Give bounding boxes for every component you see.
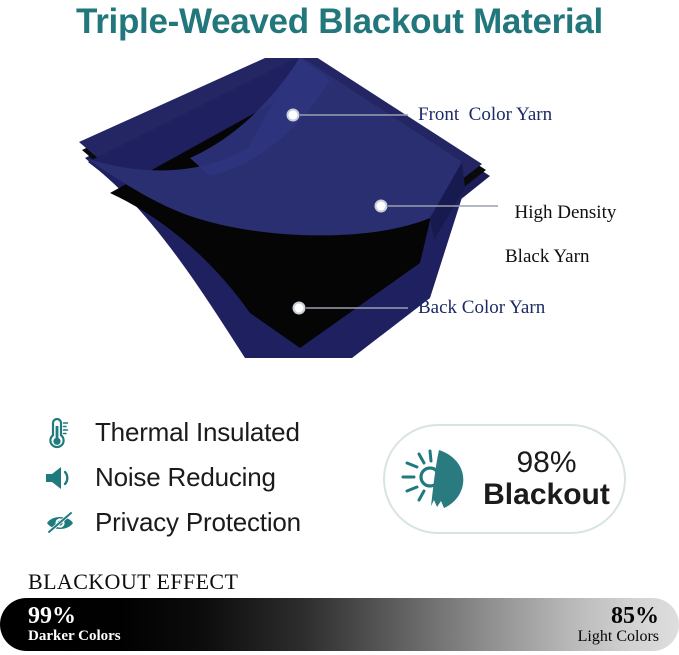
- callout-dot-icon: [376, 201, 387, 212]
- blackout-effect-heading: BLACKOUT EFFECT: [28, 569, 238, 595]
- feature-label: Thermal Insulated: [95, 417, 300, 448]
- feature-item-privacy-protection: Privacy Protection: [44, 500, 374, 545]
- callout-back-color-yarn: Back Color Yarn: [418, 297, 545, 319]
- blackout-percent: 98%: [483, 447, 610, 479]
- callout-dot-icon: [288, 110, 299, 121]
- gradient-right-percent: 85%: [578, 604, 659, 629]
- thermometer-icon: [44, 415, 86, 451]
- gradient-left-label: Darker Colors: [28, 629, 121, 645]
- callout-line-1: High Density: [515, 202, 617, 223]
- blackout-word: Blackout: [483, 479, 610, 511]
- feature-list: Thermal Insulated Noise Reducing Privacy…: [44, 410, 374, 545]
- blackout-badge: 98% Blackout: [383, 424, 626, 534]
- page-title: Triple-Weaved Blackout Material: [0, 2, 679, 42]
- eye-slash-icon: [44, 505, 86, 541]
- feature-label: Noise Reducing: [95, 462, 276, 493]
- callout-line-2: Black Yarn: [505, 246, 616, 268]
- callout-high-density-black-yarn: High Density Black Yarn: [505, 180, 616, 290]
- gradient-left-percent: 99%: [28, 604, 121, 629]
- feature-label: Privacy Protection: [95, 507, 301, 538]
- feature-item-noise-reducing: Noise Reducing: [44, 455, 374, 500]
- sun-behind-curtain-icon: [399, 444, 473, 514]
- feature-item-thermal-insulated: Thermal Insulated: [44, 410, 374, 455]
- gradient-right-label: Light Colors: [578, 629, 659, 646]
- blackout-badge-text: 98% Blackout: [483, 447, 610, 512]
- callout-dot-icon: [294, 303, 305, 314]
- gradient-left-stat: 99% Darker Colors: [28, 604, 121, 645]
- gradient-right-stat: 85% Light Colors: [578, 604, 659, 646]
- callout-front-color-yarn: Front Color Yarn: [418, 104, 552, 126]
- blackout-effect-gradient-bar: 99% Darker Colors 85% Light Colors: [0, 598, 679, 651]
- speaker-sound-icon: [44, 460, 86, 496]
